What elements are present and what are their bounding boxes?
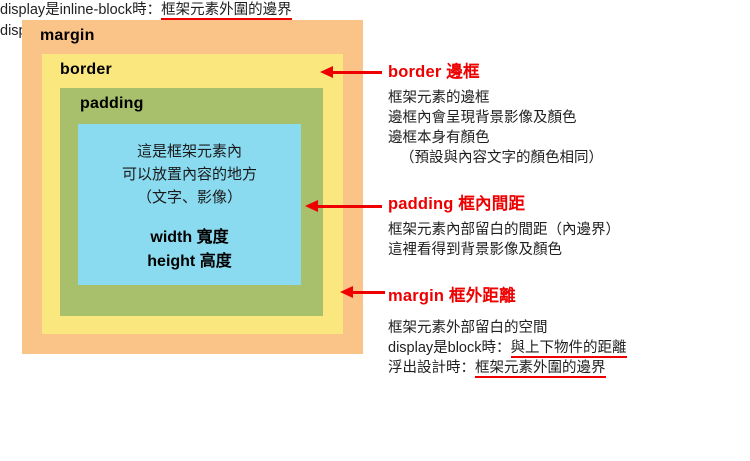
padding-annotation-body: 框架元素內部留白的間距（內邊界） 這裡看得到背景影像及顏色 bbox=[388, 220, 620, 260]
annotation-line: 這裡看得到背景影像及顏色 bbox=[388, 240, 620, 260]
annotation-line: 框架元素內部留白的間距（內邊界） bbox=[388, 220, 620, 240]
padding-arrow-icon bbox=[305, 200, 382, 212]
annotation-prefix: display是inline-block時： bbox=[0, 2, 161, 18]
annotation-line: 框架元素外部留白的空間 bbox=[388, 318, 627, 338]
arrow-head bbox=[305, 200, 318, 212]
margin-annotation-title: margin 框外距離 bbox=[388, 282, 627, 306]
annotation-line: display是block時：與上下物件的距離 bbox=[388, 338, 627, 358]
annotation-line: display是inline-block時：框架元素外圍的邊界 bbox=[0, 0, 750, 21]
content-box-dimensions: width 寬度 height 高度 bbox=[78, 226, 301, 274]
padding-box-label: padding bbox=[80, 95, 144, 113]
border-arrow-icon bbox=[320, 66, 382, 78]
content-line: 可以放置內容的地方 bbox=[78, 163, 301, 186]
padding-annotation-title: padding 框內間距 bbox=[388, 190, 620, 214]
arrow-shaft bbox=[331, 71, 382, 74]
arrow-head bbox=[340, 286, 353, 298]
annotation-line: 邊框內會呈現背景影像及顏色 bbox=[388, 108, 603, 128]
annotation-line: 邊框本身有顏色 bbox=[388, 128, 603, 148]
margin-arrow-icon bbox=[340, 286, 385, 298]
box-model-diagram-canvas: margin border padding 這是框架元素內 可以放置內容的地方 … bbox=[0, 0, 750, 461]
arrow-shaft bbox=[316, 205, 382, 208]
margin-annotation-body: 框架元素外部留白的空間 display是block時：與上下物件的距離 浮出設計… bbox=[388, 318, 627, 378]
content-line: （文字、影像） bbox=[78, 186, 301, 209]
width-label: width 寬度 bbox=[78, 226, 301, 250]
annotation-underlined: 與上下物件的距離 bbox=[511, 340, 627, 358]
border-box-label: border bbox=[60, 61, 112, 79]
annotation-underlined: 框架元素外圍的邊界 bbox=[161, 2, 292, 20]
annotation-line: （預設與內容文字的顏色相同） bbox=[388, 148, 603, 168]
border-annotation-body: 框架元素的邊框 邊框內會呈現背景影像及顏色 邊框本身有顏色 （預設與內容文字的顏… bbox=[388, 88, 603, 168]
annotation-line: 浮出設計時：框架元素外圍的邊界 bbox=[388, 358, 627, 378]
arrow-head bbox=[320, 66, 333, 78]
annotation-underlined: 框架元素外圍的邊界 bbox=[475, 360, 606, 378]
annotation-prefix: display是block時： bbox=[388, 340, 511, 356]
margin-annotation: margin 框外距離 框架元素外部留白的空間 display是block時：與… bbox=[388, 282, 627, 378]
padding-annotation: padding 框內間距 框架元素內部留白的間距（內邊界） 這裡看得到背景影像及… bbox=[388, 190, 620, 260]
annotation-prefix: 浮出設計時： bbox=[388, 360, 475, 376]
arrow-shaft bbox=[351, 291, 385, 294]
border-annotation-title: border 邊框 bbox=[388, 58, 603, 82]
margin-box-label: margin bbox=[40, 27, 95, 45]
content-line: 這是框架元素內 bbox=[78, 140, 301, 163]
content-box-description: 這是框架元素內 可以放置內容的地方 （文字、影像） bbox=[78, 140, 301, 209]
annotation-line: 框架元素的邊框 bbox=[388, 88, 603, 108]
height-label: height 高度 bbox=[78, 250, 301, 274]
border-annotation: border 邊框 框架元素的邊框 邊框內會呈現背景影像及顏色 邊框本身有顏色 … bbox=[388, 58, 603, 168]
